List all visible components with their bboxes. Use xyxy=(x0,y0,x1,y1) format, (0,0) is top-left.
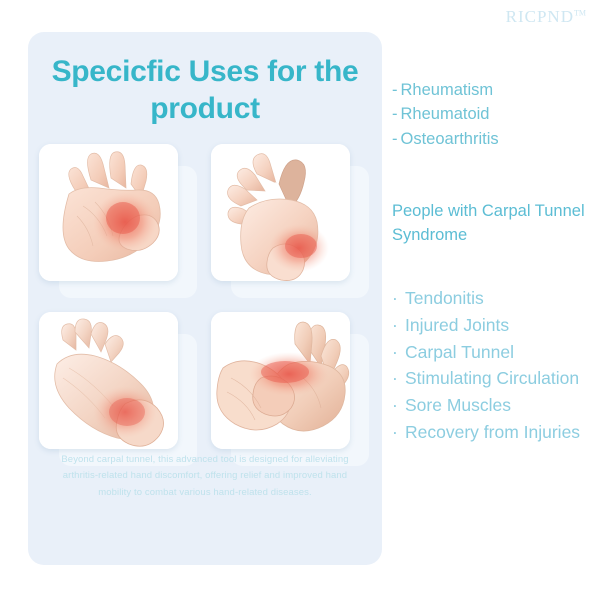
left-panel: Specicfic Uses for the product xyxy=(28,32,382,565)
list-item: ·Stimulating Circulation xyxy=(392,365,597,392)
right-column: -Rheumatism -Rheumatoid -Osteoarthritis … xyxy=(392,78,592,151)
dash-marker: - xyxy=(392,130,398,148)
list-item: -Osteoarthritis xyxy=(392,127,592,151)
palm-massage-red-pain-icon xyxy=(211,312,350,449)
list-item: ·Tendonitis xyxy=(392,285,597,312)
list-item-label: Sore Muscles xyxy=(405,395,511,415)
dash-marker: - xyxy=(392,105,398,123)
forearm-red-pain-icon xyxy=(39,312,178,449)
photo-card-forearm-red-pain[interactable] xyxy=(39,312,178,449)
trademark-symbol: TM xyxy=(574,8,586,17)
dot-marker: · xyxy=(392,312,398,339)
list-item: ·Injured Joints xyxy=(392,312,597,339)
list-item-label: Recovery from Injuries xyxy=(405,422,580,442)
list-item: ·Recovery from Injuries xyxy=(392,419,597,446)
photo-card-hand-wrist-red-pain[interactable] xyxy=(211,144,350,281)
dot-marker: · xyxy=(392,392,398,419)
list-item-label: Injured Joints xyxy=(405,315,509,335)
list-item-label: Stimulating Circulation xyxy=(405,368,579,388)
list-item-label: Rheumatism xyxy=(401,81,494,99)
hand-palm-red-pain-icon xyxy=(39,144,178,281)
dot-marker: · xyxy=(392,285,398,312)
dot-marker: · xyxy=(392,339,398,366)
photo-slot xyxy=(39,312,199,464)
brand-logo: RICPNDTM xyxy=(506,8,586,25)
panel-caption: Beyond carpal tunnel, this advanced tool… xyxy=(50,452,360,501)
group-heading: People with Carpal Tunnel Syndrome xyxy=(392,200,592,247)
photo-slot xyxy=(211,144,371,296)
hand-wrist-red-pain-icon xyxy=(211,144,350,281)
dot-marker: · xyxy=(392,419,398,446)
uses-list: ·Tendonitis ·Injured Joints ·Carpal Tunn… xyxy=(392,285,597,446)
photo-card-hand-palm-red-pain[interactable] xyxy=(39,144,178,281)
list-item: -Rheumatism xyxy=(392,78,592,102)
list-item-label: Tendonitis xyxy=(405,288,484,308)
photo-slot xyxy=(211,312,371,464)
list-item: ·Sore Muscles xyxy=(392,392,597,419)
conditions-list: -Rheumatism -Rheumatoid -Osteoarthritis xyxy=(392,78,592,151)
photo-card-palm-massage-red-pain[interactable] xyxy=(211,312,350,449)
list-item-label: Carpal Tunnel xyxy=(405,342,514,362)
dot-marker: · xyxy=(392,365,398,392)
page-title: Specicfic Uses for the product xyxy=(28,32,382,127)
brand-name: RICPND xyxy=(506,7,574,26)
dash-marker: - xyxy=(392,81,398,99)
list-item-label: Rheumatoid xyxy=(401,105,490,123)
list-item: -Rheumatoid xyxy=(392,102,592,126)
list-item: ·Carpal Tunnel xyxy=(392,339,597,366)
photo-grid xyxy=(28,144,382,464)
list-item-label: Osteoarthritis xyxy=(401,130,499,148)
photo-slot xyxy=(39,144,199,296)
